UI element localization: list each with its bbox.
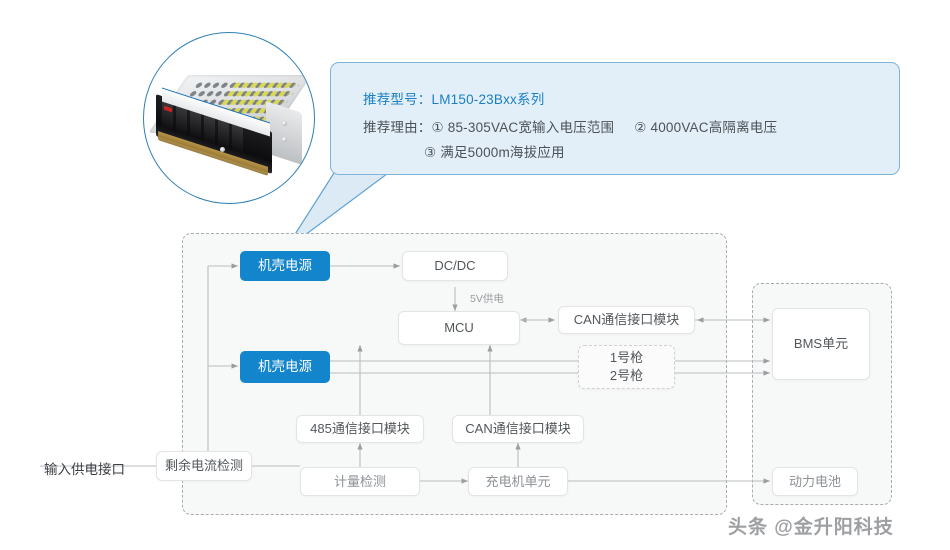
callout-reason-label: 推荐理由：	[363, 116, 432, 136]
node-can-interface-lower[interactable]: CAN通信接口模块	[452, 415, 584, 443]
node-enclosed-psu-bottom[interactable]: 机壳电源	[240, 351, 330, 383]
callout-model-label: 推荐型号：	[363, 88, 432, 108]
node-metering-detection[interactable]: 计量检测	[300, 467, 420, 496]
callout-reason-line-1: 推荐理由：① 85-305VAC宽输入电压范围② 4000VAC高隔离电压	[363, 116, 797, 136]
diagram-canvas: 推荐型号：LM150-23Bxx系列 推荐理由：① 85-305VAC宽输入电压…	[0, 0, 950, 550]
callout-model-line: 推荐型号：LM150-23Bxx系列	[363, 88, 544, 108]
node-rs485-interface[interactable]: 485通信接口模块	[296, 415, 424, 443]
node-leakage-detection[interactable]: 剩余电流检测	[156, 451, 252, 481]
watermark: 头条 @金升阳科技	[728, 512, 894, 539]
recommendation-callout: 推荐型号：LM150-23Bxx系列 推荐理由：① 85-305VAC宽输入电压…	[330, 62, 900, 175]
callout-reason-line-2: ③ 满足5000m海拔应用	[424, 141, 585, 161]
node-dcdc[interactable]: DC/DC	[402, 251, 508, 281]
psu-screw	[282, 137, 287, 142]
block-diagram: 输入供电接口 剩余电流检测 机壳电源 机壳电源 DC/DC 5V供电 MCU C…	[0, 215, 950, 535]
node-mcu[interactable]: MCU	[398, 311, 520, 345]
node-charging-guns[interactable]: 1号枪 2号枪	[578, 345, 675, 389]
node-bms-unit[interactable]: BMS单元	[772, 308, 870, 380]
node-enclosed-psu-top[interactable]: 机壳电源	[240, 251, 330, 281]
node-power-battery[interactable]: 动力电池	[772, 467, 858, 496]
callout-reason-3: ③ 满足5000m海拔应用	[424, 141, 565, 161]
callout-model-value: LM150-23Bxx系列	[432, 88, 545, 108]
node-charger-unit[interactable]: 充电机单元	[468, 467, 568, 496]
psu-screw	[220, 147, 225, 152]
psu-screw	[282, 121, 287, 126]
node-can-interface-upper[interactable]: CAN通信接口模块	[558, 306, 695, 334]
callout-reason-1: ① 85-305VAC宽输入电压范围	[432, 116, 615, 136]
power-supply-photo	[154, 75, 306, 167]
callout-reason-2: ② 4000VAC高隔离电压	[634, 116, 777, 136]
edge-label-5v-supply: 5V供电	[470, 291, 504, 306]
input-supply-label: 输入供电接口	[44, 458, 125, 478]
